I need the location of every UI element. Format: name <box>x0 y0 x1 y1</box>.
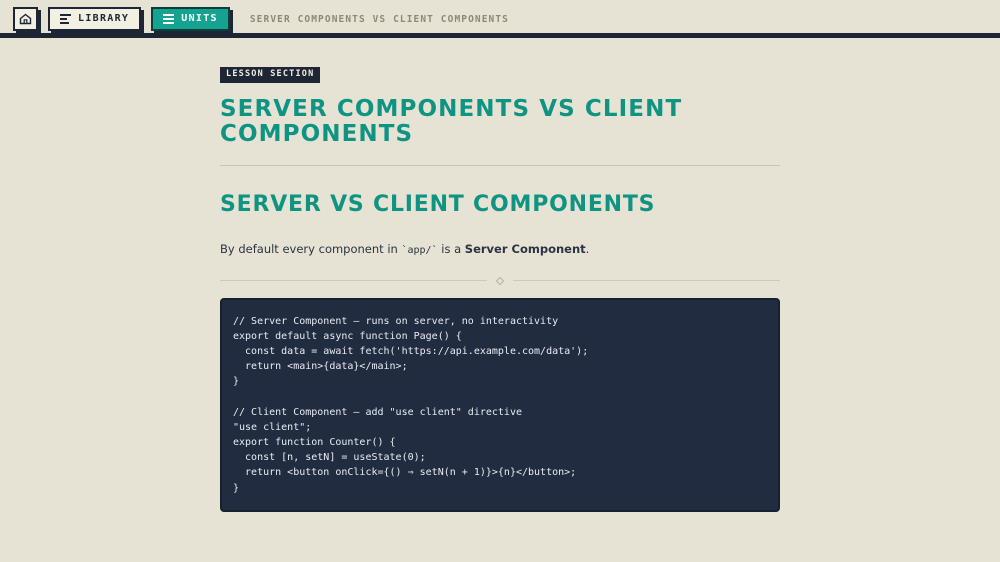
home-icon <box>19 13 32 25</box>
breadcrumb: SERVER COMPONENTS VS CLIENT COMPONENTS <box>250 14 509 25</box>
code-block: // Server Component — runs on server, no… <box>220 298 780 512</box>
section-heading: SERVER VS CLIENT COMPONENTS <box>220 193 780 217</box>
lesson-content: LESSON SECTION SERVER COMPONENTS VS CLIE… <box>220 61 780 512</box>
ornament-line-right <box>513 280 780 281</box>
ornament-divider <box>220 278 780 284</box>
lesson-section-badge: LESSON SECTION <box>220 67 320 83</box>
paragraph-end: . <box>586 242 590 256</box>
ornament-line-left <box>220 280 487 281</box>
paragraph-strong: Server Component <box>465 242 586 256</box>
library-button-label: LIBRARY <box>78 14 129 24</box>
library-button[interactable]: LIBRARY <box>48 7 141 31</box>
paragraph-mid: is a <box>438 242 465 256</box>
title-divider <box>220 165 780 166</box>
diamond-icon <box>496 276 504 284</box>
paragraph-lead: By default every component in <box>220 242 401 256</box>
list-lines-icon <box>60 14 71 24</box>
lesson-paragraph: By default every component in `app/` is … <box>220 241 780 258</box>
units-button[interactable]: UNITS <box>151 7 230 31</box>
units-button-label: UNITS <box>181 14 218 24</box>
page-body: LESSON SECTION SERVER COMPONENTS VS CLIE… <box>0 38 1000 512</box>
page-title: SERVER COMPONENTS VS CLIENT COMPONENTS <box>220 97 780 148</box>
home-button[interactable] <box>13 7 38 31</box>
hamburger-menu-icon <box>163 14 174 24</box>
top-toolbar: LIBRARY UNITS SERVER COMPONENTS VS CLIEN… <box>0 0 1000 38</box>
inline-code-app-dir: `app/` <box>401 245 437 256</box>
